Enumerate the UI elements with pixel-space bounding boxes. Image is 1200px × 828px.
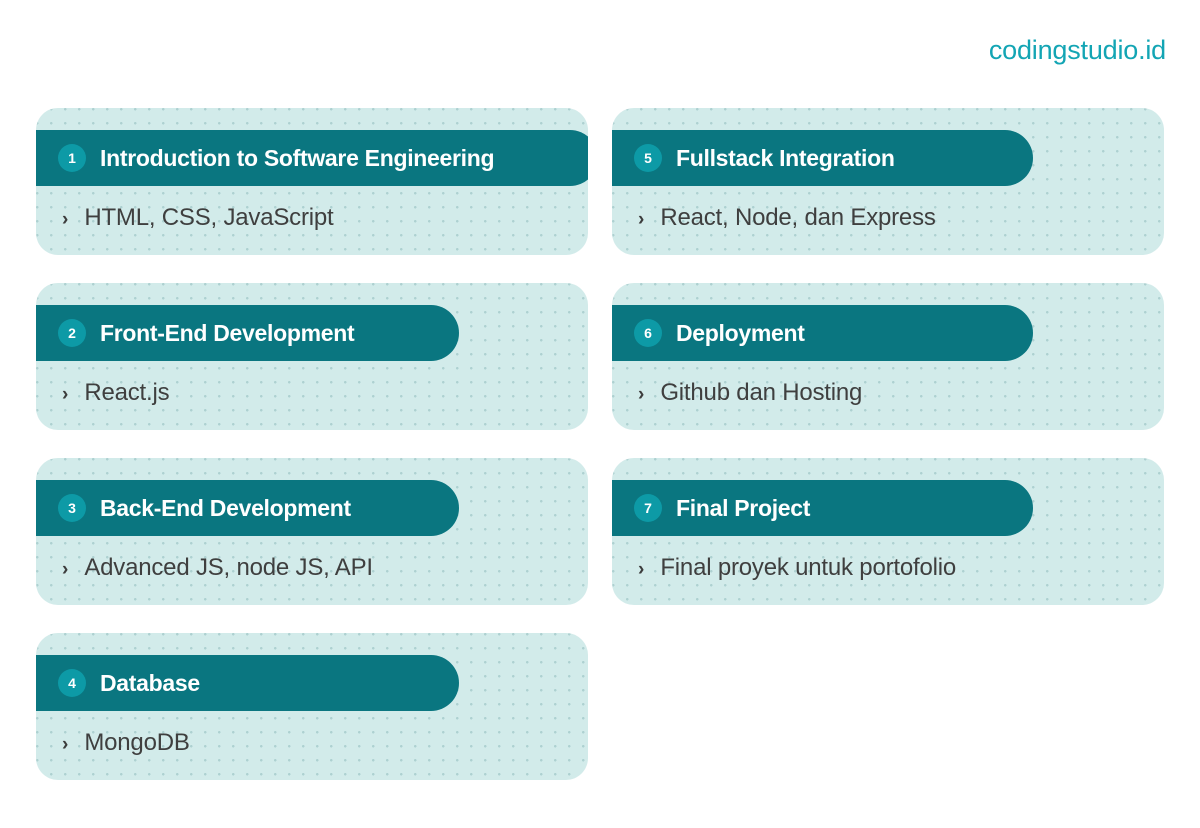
curriculum-infographic: codingstudio.id 1 Introduction to Softwa… — [0, 0, 1200, 828]
module-card-2[interactable]: 2 Front-End Development › React.js — [36, 283, 588, 430]
module-card-7[interactable]: 7 Final Project › Final proyek untuk por… — [612, 458, 1164, 605]
module-number-badge: 5 — [634, 144, 662, 172]
module-number-badge: 7 — [634, 494, 662, 522]
module-title: Deployment — [676, 322, 805, 345]
module-subtitle: MongoDB — [84, 731, 189, 755]
chevron-right-icon: › — [638, 210, 644, 229]
module-card-5[interactable]: 5 Fullstack Integration › React, Node, d… — [612, 108, 1164, 255]
module-body-7: › Final proyek untuk portofolio — [638, 556, 956, 580]
brand-logo-text: codingstudio.id — [989, 35, 1166, 66]
brand-header: codingstudio.id — [0, 0, 1200, 100]
module-card-6[interactable]: 6 Deployment › Github dan Hosting — [612, 283, 1164, 430]
module-number-badge: 4 — [58, 669, 86, 697]
module-number-badge: 6 — [634, 319, 662, 347]
module-body-4: › MongoDB — [62, 731, 190, 755]
module-header-3: 3 Back-End Development — [36, 480, 459, 536]
chevron-right-icon: › — [62, 385, 68, 404]
module-header-2: 2 Front-End Development — [36, 305, 459, 361]
module-body-3: › Advanced JS, node JS, API — [62, 556, 373, 580]
module-header-7: 7 Final Project — [612, 480, 1033, 536]
module-subtitle: HTML, CSS, JavaScript — [84, 206, 333, 230]
module-body-2: › React.js — [62, 381, 169, 405]
module-body-6: › Github dan Hosting — [638, 381, 862, 405]
module-title: Database — [100, 672, 200, 695]
module-header-4: 4 Database — [36, 655, 459, 711]
module-title: Back-End Development — [100, 497, 351, 520]
module-column-right: 5 Fullstack Integration › React, Node, d… — [612, 108, 1164, 780]
module-body-5: › React, Node, dan Express — [638, 206, 936, 230]
module-body-1: › HTML, CSS, JavaScript — [62, 206, 334, 230]
chevron-right-icon: › — [638, 560, 644, 579]
module-card-1[interactable]: 1 Introduction to Software Engineering ›… — [36, 108, 588, 255]
module-grid: 1 Introduction to Software Engineering ›… — [36, 108, 1164, 780]
module-column-left: 1 Introduction to Software Engineering ›… — [36, 108, 588, 780]
module-subtitle: Advanced JS, node JS, API — [84, 556, 373, 580]
chevron-right-icon: › — [62, 210, 68, 229]
module-number-badge: 3 — [58, 494, 86, 522]
module-header-6: 6 Deployment — [612, 305, 1033, 361]
module-number-badge: 1 — [58, 144, 86, 172]
module-title: Final Project — [676, 497, 810, 520]
module-card-4[interactable]: 4 Database › MongoDB — [36, 633, 588, 780]
module-title: Front-End Development — [100, 322, 354, 345]
module-header-5: 5 Fullstack Integration — [612, 130, 1033, 186]
module-subtitle: React, Node, dan Express — [660, 206, 935, 230]
chevron-right-icon: › — [62, 560, 68, 579]
chevron-right-icon: › — [62, 735, 68, 754]
module-title: Fullstack Integration — [676, 147, 895, 170]
module-header-1: 1 Introduction to Software Engineering — [36, 130, 588, 186]
module-subtitle: Final proyek untuk portofolio — [660, 556, 956, 580]
module-subtitle: React.js — [84, 381, 169, 405]
chevron-right-icon: › — [638, 385, 644, 404]
module-card-3[interactable]: 3 Back-End Development › Advanced JS, no… — [36, 458, 588, 605]
module-title: Introduction to Software Engineering — [100, 147, 494, 170]
module-subtitle: Github dan Hosting — [660, 381, 862, 405]
module-number-badge: 2 — [58, 319, 86, 347]
